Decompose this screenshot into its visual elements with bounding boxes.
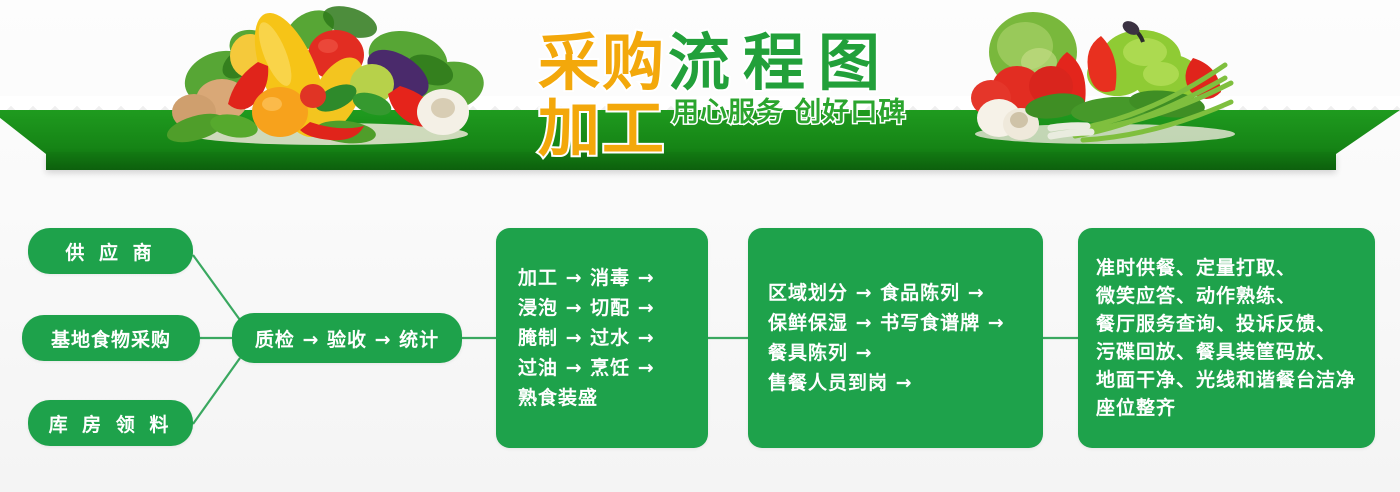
line-item: 污碟回放、餐具装筐码放、	[1096, 338, 1357, 366]
line-item: 腌制 → 过水 →	[518, 323, 686, 353]
title-orange-line2: 加工	[538, 78, 666, 168]
vegetable-pile-right-icon	[955, 0, 1245, 145]
node-storeroom[interactable]: 库 房 领 料	[28, 400, 193, 446]
node-storeroom-label: 库 房 领 料	[49, 410, 173, 437]
title-subtitle: 用心服务 创好口碑	[672, 90, 906, 129]
title-green-main: 流程图	[668, 12, 893, 102]
vegetable-pile-left-icon	[150, 0, 500, 145]
shelf-front-edge	[46, 152, 1336, 170]
line-item: 售餐人员到岗 →	[768, 368, 1023, 398]
line-item: 熟食装盛	[518, 383, 686, 413]
flowchart: 供 应 商 基地食物采购 库 房 领 料 质检 → 验收 → 统计 加工 → 消…	[0, 200, 1400, 492]
node-base-purchase-label: 基地食物采购	[51, 325, 171, 352]
node-display-prep[interactable]: 区域划分 → 食品陈列 → 保鲜保湿 → 书写食谱牌 → 餐具陈列 → 售餐人员…	[748, 228, 1043, 448]
line-item: 加工 → 消毒 →	[518, 263, 686, 293]
page-title: 采购 加工 流程图 用心服务 创好口碑	[520, 8, 930, 136]
line-item: 浸泡 → 切配 →	[518, 293, 686, 323]
line-item: 准时供餐、定量打取、	[1096, 254, 1357, 282]
line-item: 过油 → 烹饪 →	[518, 353, 686, 383]
line-item: 保鲜保湿 → 书写食谱牌 →	[768, 308, 1023, 338]
node-inspection-label: 质检 → 验收 → 统计	[255, 325, 439, 352]
node-supplier[interactable]: 供 应 商	[28, 228, 193, 274]
line-item: 微笑应答、动作熟练、	[1096, 282, 1357, 310]
line-item: 座位整齐	[1096, 394, 1357, 422]
node-base-purchase[interactable]: 基地食物采购	[22, 315, 200, 361]
node-service-standards[interactable]: 准时供餐、定量打取、 微笑应答、动作熟练、 餐厅服务查询、投诉反馈、 污碟回放、…	[1078, 228, 1375, 448]
node-processing-lines: 加工 → 消毒 → 浸泡 → 切配 → 腌制 → 过水 → 过油 → 烹饪 → …	[496, 263, 708, 413]
node-inspection[interactable]: 质检 → 验收 → 统计	[232, 313, 462, 363]
node-supplier-label: 供 应 商	[65, 238, 155, 265]
header-banner: 采购 加工 流程图 用心服务 创好口碑	[0, 0, 1400, 200]
node-display-prep-lines: 区域划分 → 食品陈列 → 保鲜保湿 → 书写食谱牌 → 餐具陈列 → 售餐人员…	[748, 278, 1043, 398]
node-processing[interactable]: 加工 → 消毒 → 浸泡 → 切配 → 腌制 → 过水 → 过油 → 烹饪 → …	[496, 228, 708, 448]
node-service-standards-lines: 准时供餐、定量打取、 微笑应答、动作熟练、 餐厅服务查询、投诉反馈、 污碟回放、…	[1078, 254, 1375, 422]
line-item: 餐具陈列 →	[768, 338, 1023, 368]
line-item: 地面干净、光线和谐餐台洁净	[1096, 366, 1357, 394]
line-item: 餐厅服务查询、投诉反馈、	[1096, 310, 1357, 338]
line-item: 区域划分 → 食品陈列 →	[768, 278, 1023, 308]
